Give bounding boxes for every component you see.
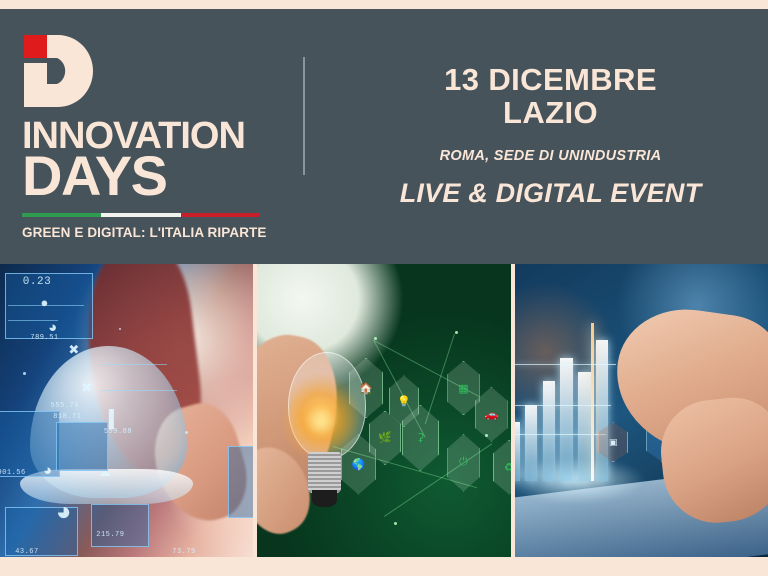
photo2-network-node: [394, 522, 397, 525]
photo1-hud-line: [101, 364, 167, 365]
wifi-icon: ◕: [43, 463, 52, 478]
ev-charger-icon: ⏻: [447, 434, 479, 492]
flag-stripe-white: [101, 213, 180, 217]
photo1-hud-value: 43.67: [15, 548, 39, 556]
event-region: LAZIO: [444, 97, 657, 130]
event-mode: LIVE & DIGITAL EVENT: [400, 178, 702, 209]
photo1-hud-value: 73.79: [172, 548, 196, 556]
cloud-icon: ☁: [99, 466, 111, 478]
photo3-chart-bar: [525, 405, 538, 481]
photo2-bulb-screw-base: [308, 452, 341, 493]
logo-word-days: DAYS: [22, 150, 303, 202]
photo1-hud-value: 555.74: [51, 402, 79, 410]
flag-stripe-red: [181, 213, 260, 217]
photo1-hud-panel: [91, 504, 149, 547]
photo3-chart-bar: [560, 358, 573, 481]
photo-holographic-data-touch: ■ ▚ ▣: [515, 264, 768, 557]
photo1-hud-panel: [56, 422, 109, 471]
photo3-grid-line: [515, 434, 606, 436]
bar-chart-icon: ▍: [109, 411, 122, 428]
recycle-icon: ♻: [493, 440, 511, 495]
photo-green-energy-bulb: 🏠 💡 ▦ 🚗 🌿 ⚳ ⏻ ♻ 🌎: [257, 264, 510, 557]
photo1-hud-value: 0.23: [23, 276, 51, 288]
photo2-network-node: [455, 331, 458, 334]
photo3-grid-line: [515, 364, 616, 366]
event-date-region: 13 DICEMBRE LAZIO: [444, 64, 657, 130]
photo3-chart-bar: [578, 372, 591, 480]
photo1-hud-value: 559.88: [104, 428, 132, 436]
electric-car-icon: 🚗: [475, 387, 507, 442]
photo-strip: 789.51 555.74 818.71 559.88 901.56 215.7…: [0, 264, 768, 557]
top-cream-band: [0, 0, 768, 9]
photo1-hud-value: 215.79: [96, 531, 124, 539]
photo2-network-node: [374, 337, 377, 340]
banner-header: INNOVATION DAYS GREEN E DIGITAL: L'ITALI…: [0, 9, 768, 264]
photo1-hud-value: 818.71: [53, 413, 81, 421]
wifi-icon: ◕: [56, 498, 72, 524]
photo1-spark: [23, 372, 26, 375]
photo2-bulb-contact-tip: [312, 490, 337, 508]
event-venue: ROMA, SEDE DI UNINDUSTRIA: [440, 148, 662, 164]
flag-stripe-green: [22, 213, 101, 217]
photo3-chart-bar: [515, 422, 520, 481]
event-banner: INNOVATION DAYS GREEN E DIGITAL: L'ITALI…: [0, 0, 768, 576]
photo3-chart-bar: [596, 340, 609, 481]
logo-block: INNOVATION DAYS GREEN E DIGITAL: L'ITALI…: [0, 9, 303, 264]
photo3-chart-peak-line: [591, 323, 594, 481]
innovation-days-d-monogram-icon: [22, 33, 94, 109]
photo1-spark: [185, 431, 188, 434]
event-info-block: 13 DICEMBRE LAZIO ROMA, SEDE DI UNINDUST…: [303, 9, 768, 264]
wifi-icon: ◕: [48, 320, 57, 335]
photo1-hud-value: 901.56: [0, 469, 26, 477]
solar-panel-icon: ▦: [447, 361, 479, 416]
photo-hard-hat-digital: 789.51 555.74 818.71 559.88 901.56 215.7…: [0, 264, 253, 557]
tools-icon: ✖: [68, 343, 79, 356]
location-pin-icon: ●: [41, 296, 49, 309]
event-date: 13 DICEMBRE: [444, 64, 657, 97]
photo1-hud-panel: [228, 446, 253, 518]
tools-icon: ✖: [81, 381, 92, 394]
logo-tagline: GREEN E DIGITAL: L'ITALIA RIPARTE: [22, 225, 303, 240]
bottom-cream-band: [0, 557, 768, 576]
photo3-chart-bar: [543, 381, 556, 481]
photo3-grid-line: [515, 405, 611, 407]
italian-flag-bar-icon: [22, 213, 260, 217]
photo1-hud-line: [101, 390, 177, 391]
